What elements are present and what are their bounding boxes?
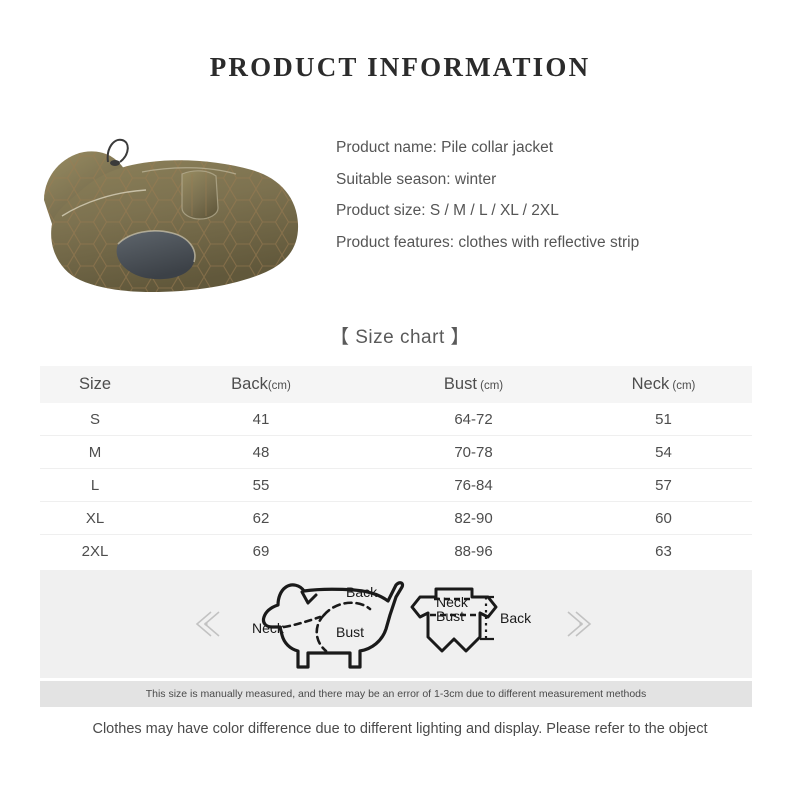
cell-back: 55: [150, 469, 372, 502]
measurement-disclaimer-bar: This size is manually measured, and ther…: [40, 681, 752, 707]
spec-product-features: Product features: clothes with reflectiv…: [336, 235, 756, 251]
table-row: L 55 76-84 57: [40, 469, 752, 502]
cell-neck: 63: [575, 535, 752, 568]
dog-outline-icon: Back Bust Neck: [252, 583, 403, 667]
size-chart-table: Size Back(cm) Bust (cm) Neck (cm) S 41 6…: [40, 366, 752, 567]
cell-back: 41: [150, 403, 372, 436]
cell-back: 48: [150, 436, 372, 469]
cell-size: M: [40, 436, 150, 469]
spec-product-size: Product size: S / M / L / XL / 2XL: [336, 203, 756, 219]
color-disclaimer-text: Clothes may have color difference due to…: [0, 721, 800, 737]
column-header-neck: Neck (cm): [575, 366, 752, 403]
cell-bust: 88-96: [372, 535, 575, 568]
measurement-figures: Back Bust Neck Neck Bust Back: [250, 575, 550, 673]
cell-bust: 82-90: [372, 502, 575, 535]
measurement-diagram-band: Back Bust Neck Neck Bust Back: [40, 570, 752, 678]
cell-size: L: [40, 469, 150, 502]
chevron-right-icon: [562, 604, 602, 644]
spec-product-name: Product name: Pile collar jacket: [336, 140, 756, 156]
table-row: 2XL 69 88-96 63: [40, 535, 752, 568]
column-header-back: Back(cm): [150, 366, 372, 403]
cell-neck: 60: [575, 502, 752, 535]
garment-bust-label: Bust: [436, 608, 464, 624]
dog-neck-label: Neck: [252, 620, 285, 636]
page-title: PRODUCT INFORMATION: [0, 52, 800, 83]
cell-back: 69: [150, 535, 372, 568]
table-row: S 41 64-72 51: [40, 403, 752, 436]
cell-bust: 64-72: [372, 403, 575, 436]
product-spec-list: Product name: Pile collar jacket Suitabl…: [336, 140, 756, 266]
cell-bust: 76-84: [372, 469, 575, 502]
spec-suitable-season: Suitable season: winter: [336, 172, 756, 188]
measurement-disclaimer-text: This size is manually measured, and ther…: [146, 688, 647, 700]
cell-size: XL: [40, 502, 150, 535]
table-header-row: Size Back(cm) Bust (cm) Neck (cm): [40, 366, 752, 403]
chevron-left-icon: [185, 604, 225, 644]
cell-size: S: [40, 403, 150, 436]
table-row: M 48 70-78 54: [40, 436, 752, 469]
column-header-bust: Bust (cm): [372, 366, 575, 403]
cell-neck: 54: [575, 436, 752, 469]
cell-neck: 57: [575, 469, 752, 502]
garment-outline-icon: Neck Bust Back: [412, 589, 532, 651]
product-photo: [22, 112, 322, 307]
cell-back: 62: [150, 502, 372, 535]
cell-neck: 51: [575, 403, 752, 436]
cell-size: 2XL: [40, 535, 150, 568]
dog-back-label: Back: [346, 584, 378, 600]
garment-back-label: Back: [500, 610, 532, 626]
table-row: XL 62 82-90 60: [40, 502, 752, 535]
size-chart-heading: 【 Size chart 】: [0, 322, 800, 349]
cell-bust: 70-78: [372, 436, 575, 469]
dog-bust-label: Bust: [336, 624, 364, 640]
column-header-size: Size: [40, 366, 150, 403]
